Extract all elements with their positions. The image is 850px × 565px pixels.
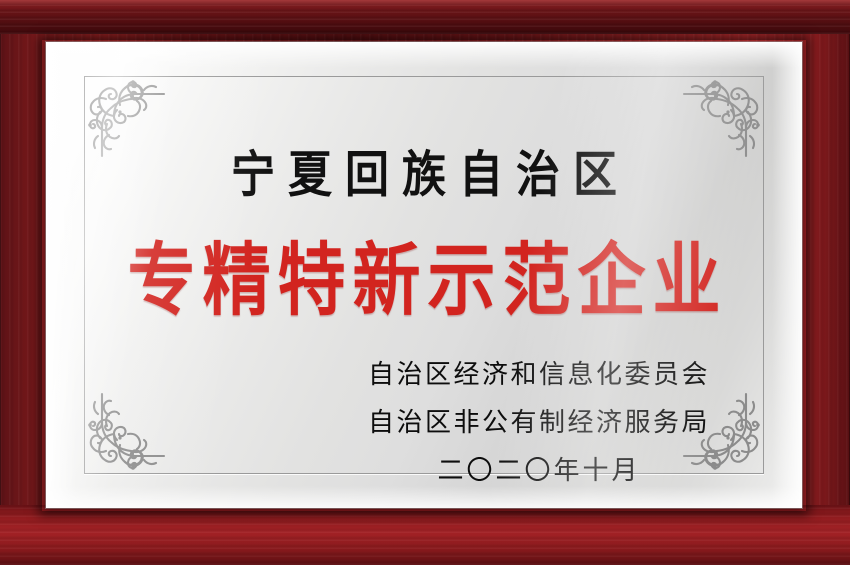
frame-top-rail xyxy=(0,0,850,34)
issuer-line: 自治区经济和信息化委员会 xyxy=(368,362,710,388)
award-title: 专精特新示范企业 xyxy=(46,216,802,331)
frame-top-highlight xyxy=(0,0,850,5)
issuer-line: 自治区非公有制经济服务局 xyxy=(368,410,710,436)
silver-plate: 宁夏回族自治区 专精特新示范企业 自治区经济和信息化委员会 自治区非公有制经济服… xyxy=(46,42,802,508)
region-title: 宁夏回族自治区 xyxy=(46,134,802,206)
frame-bottom-rail xyxy=(0,505,850,565)
issue-date: 二〇二〇年十月 xyxy=(368,458,710,484)
issuer-block: 自治区经济和信息化委员会 自治区非公有制经济服务局 二〇二〇年十月 xyxy=(368,362,710,484)
plaque-content: 宁夏回族自治区 专精特新示范企业 自治区经济和信息化委员会 自治区非公有制经济服… xyxy=(46,42,802,508)
award-plaque: 宁夏回族自治区 专精特新示范企业 自治区经济和信息化委员会 自治区非公有制经济服… xyxy=(0,0,850,565)
